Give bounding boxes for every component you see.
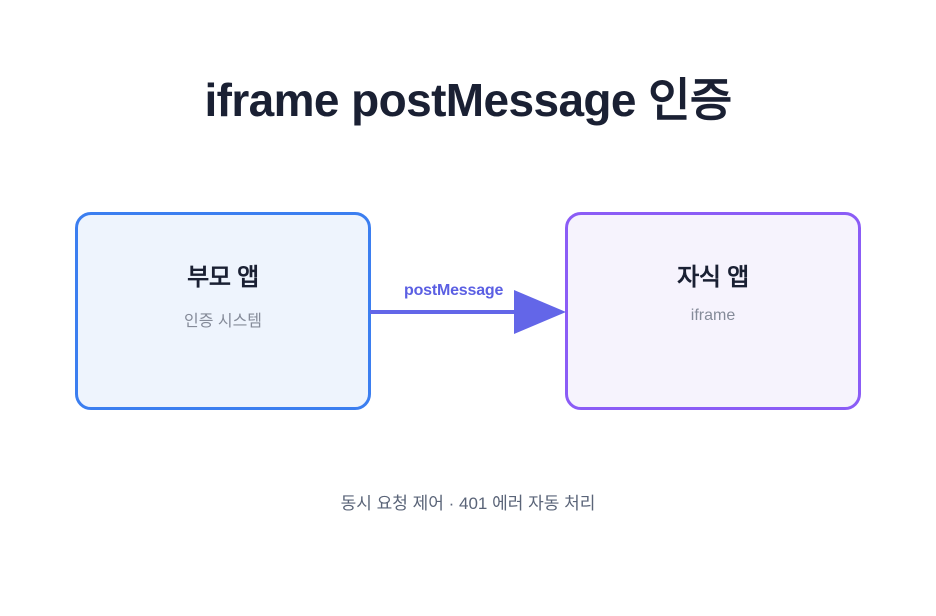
node-child-app-subtitle: iframe bbox=[568, 307, 858, 325]
arrowhead-icon bbox=[514, 290, 566, 334]
node-parent-app: 부모 앱 인증 시스템 bbox=[75, 212, 371, 410]
node-child-app-title: 자식 앱 bbox=[568, 257, 858, 292]
edge-label-postmessage: postMessage bbox=[404, 282, 503, 300]
diagram-canvas: iframe postMessage 인증 부모 앱 인증 시스템 자식 앱 i… bbox=[0, 0, 936, 616]
caption: 동시 요청 제어 · 401 에러 자동 처리 bbox=[0, 489, 936, 514]
node-parent-app-title: 부모 앱 bbox=[78, 257, 368, 292]
page-title: iframe postMessage 인증 bbox=[0, 64, 936, 130]
node-child-app: 자식 앱 iframe bbox=[565, 212, 861, 410]
node-parent-app-subtitle: 인증 시스템 bbox=[78, 307, 368, 331]
